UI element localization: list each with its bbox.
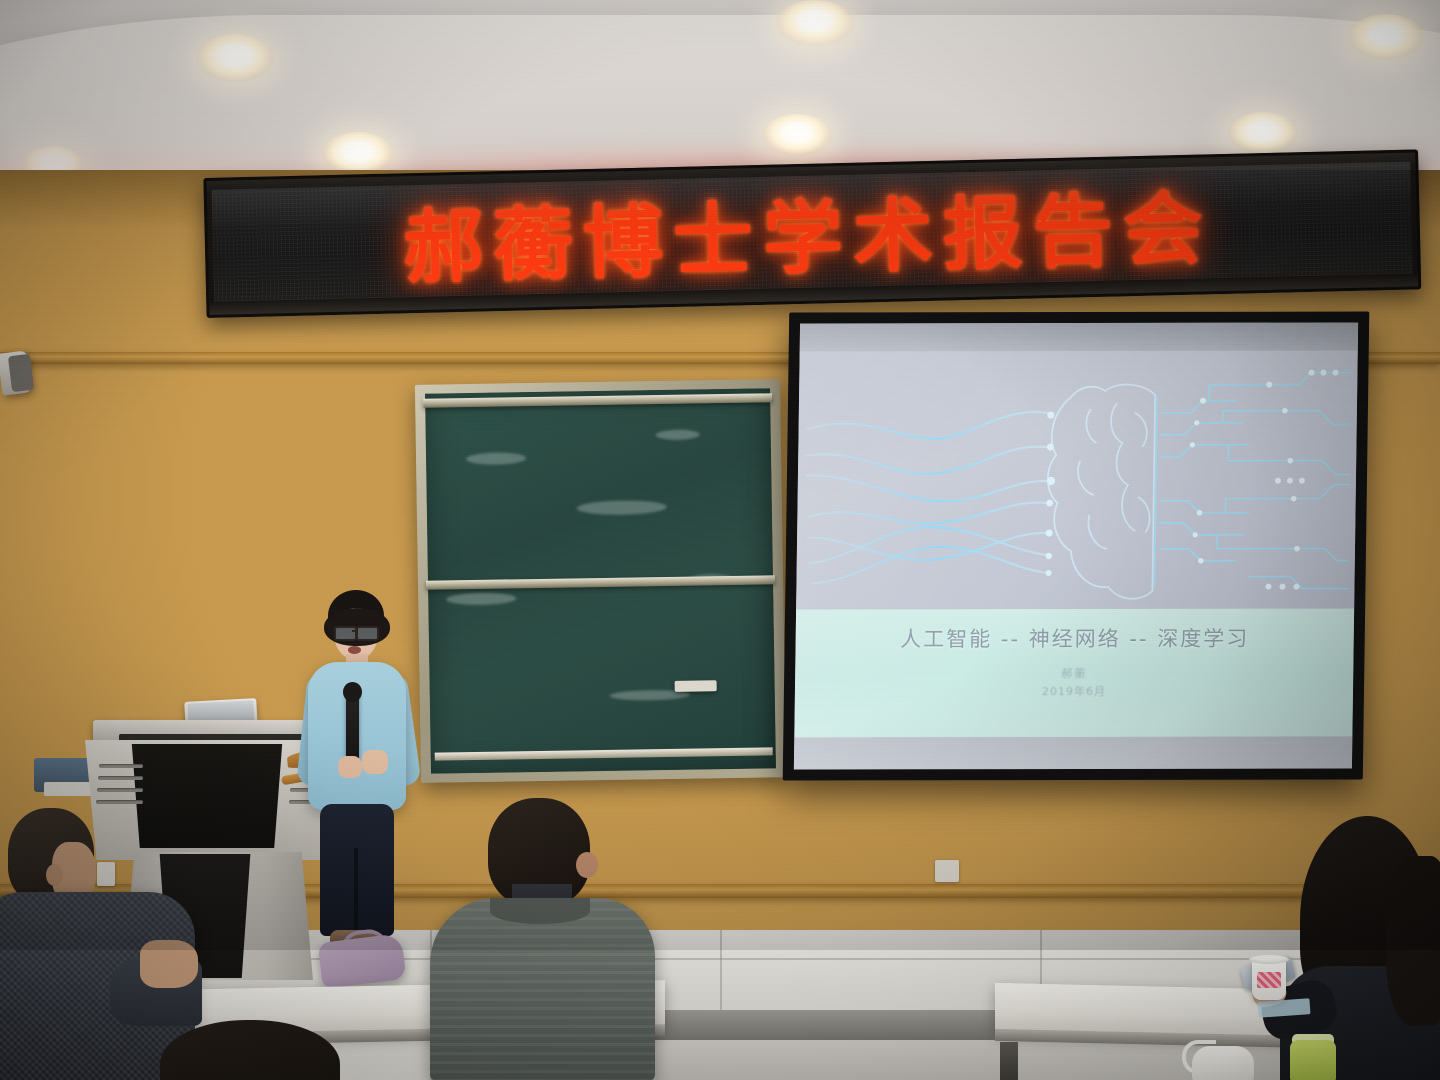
water-bottle — [1290, 1040, 1336, 1080]
teapot — [1192, 1046, 1254, 1080]
desk-right-leg — [1000, 1042, 1018, 1080]
lecture-hall-photo: 郝蘅博士学术报告会 — [0, 0, 1440, 1080]
audience-front-hair — [160, 1020, 340, 1080]
paper-cup-rim — [1249, 955, 1289, 964]
paper-cup-logo — [1257, 972, 1281, 988]
downlight-4 — [762, 114, 832, 156]
downlight-6 — [1348, 14, 1424, 60]
downlight-1 — [196, 34, 274, 82]
audience-front-row-head — [160, 1020, 370, 1080]
wall-vignette — [0, 170, 1440, 950]
downlight-3 — [776, 0, 854, 46]
downlight-5 — [1228, 112, 1298, 154]
